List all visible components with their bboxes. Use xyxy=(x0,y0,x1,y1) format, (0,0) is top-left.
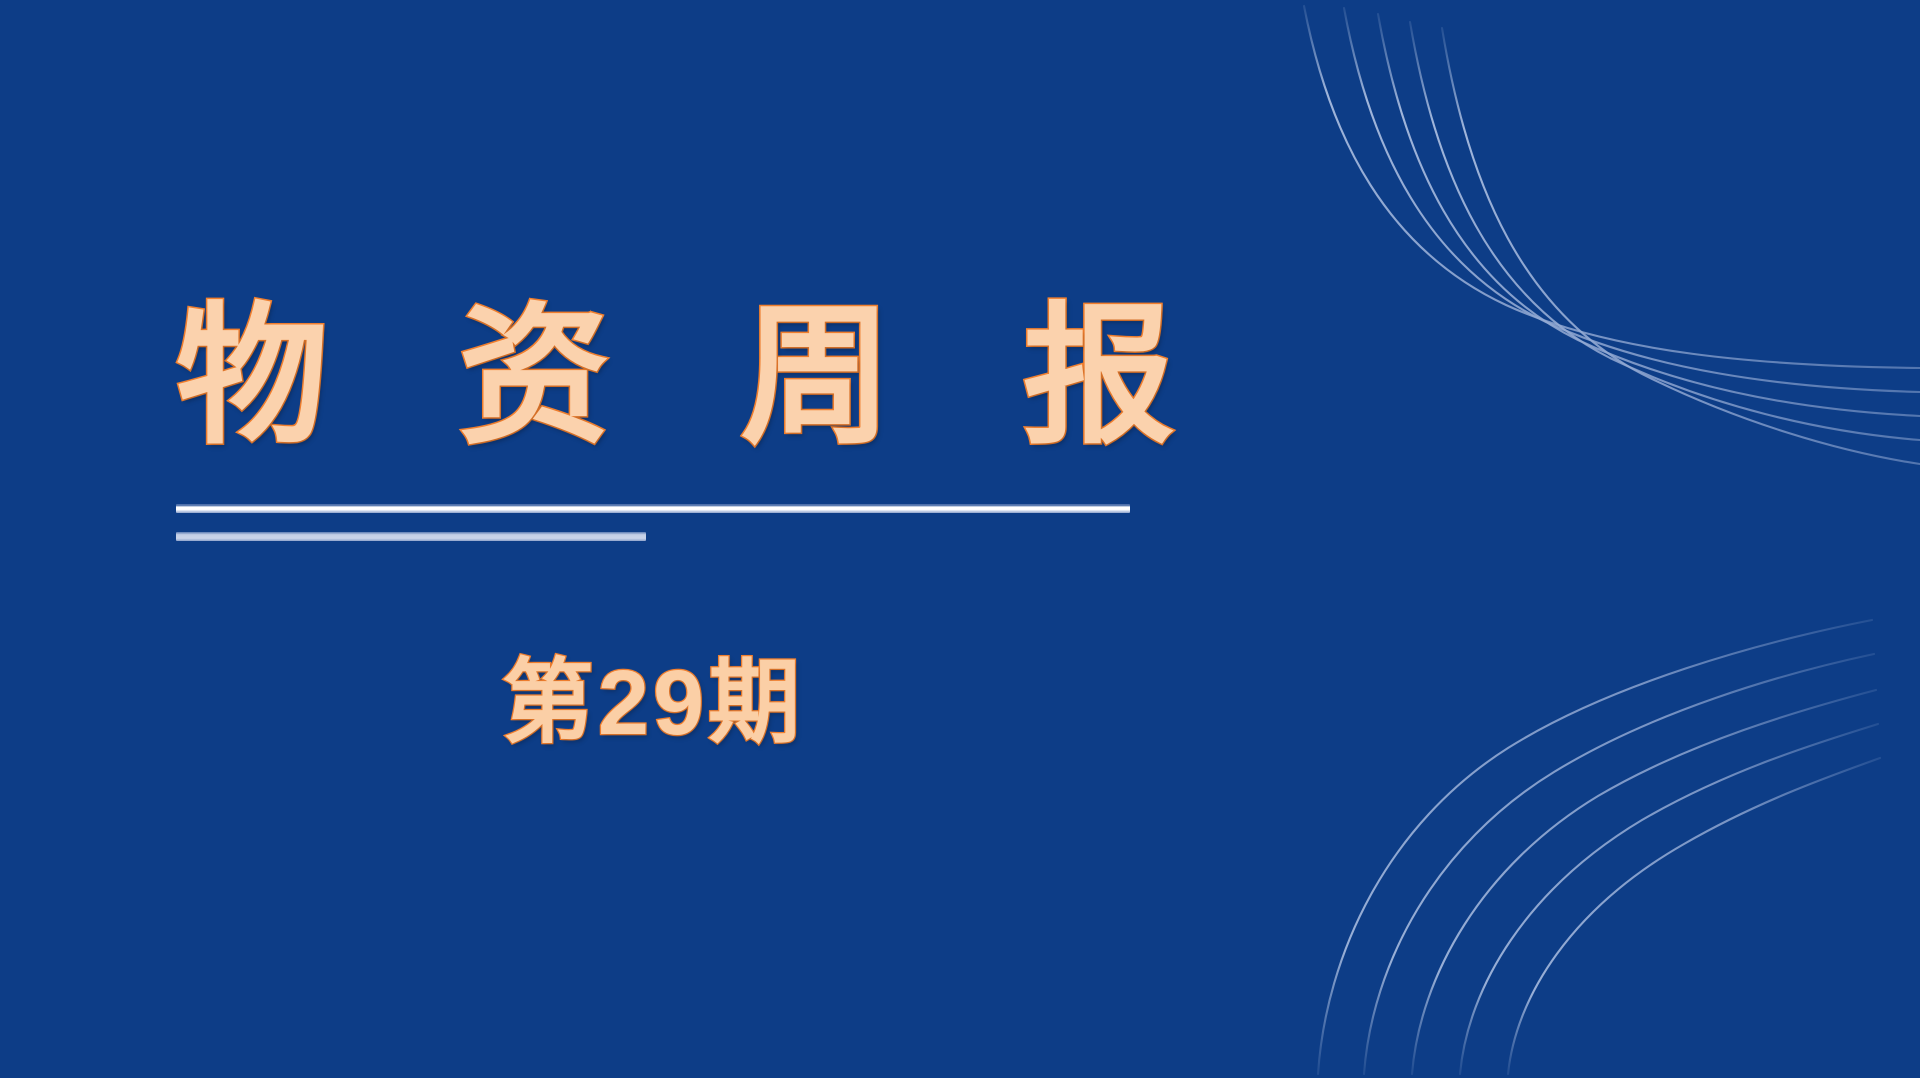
bottom-right-curve-lines xyxy=(1260,598,1920,1078)
cover-slide: 物 资 周 报 第29期 xyxy=(0,0,1920,1078)
title-block: 物 资 周 报 xyxy=(176,288,1176,467)
title-underline-secondary xyxy=(176,532,646,541)
top-right-curve-lines xyxy=(1260,0,1920,520)
subtitle-block: 第29期 xyxy=(176,648,1130,758)
title-underline-primary xyxy=(176,504,1130,513)
page-title: 物 资 周 报 xyxy=(176,288,1176,467)
issue-number: 第29期 xyxy=(502,648,804,758)
